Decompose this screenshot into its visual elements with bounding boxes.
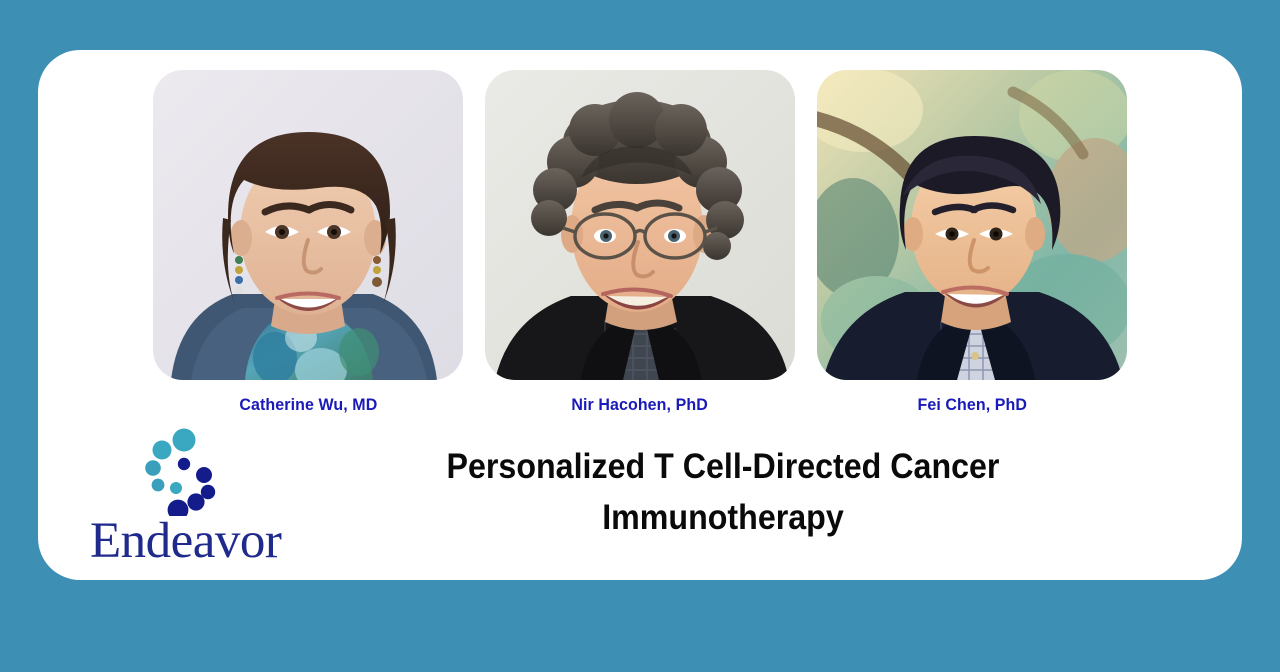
endeavor-logo: Endeavor <box>90 428 300 578</box>
endeavor-wordmark: Endeavor <box>90 516 300 567</box>
endeavor-dots-logo <box>138 428 228 516</box>
portrait-nir-hacohen <box>485 70 795 380</box>
speaker-name-2: Nir Hacohen, PhD <box>572 395 708 415</box>
speaker-card-1: Catherine Wu, MD <box>153 70 463 415</box>
talk-title: Personalized T Cell-Directed Cancer Immu… <box>360 442 1087 544</box>
speaker-name-1: Catherine Wu, MD <box>239 395 377 415</box>
speaker-card-2: Nir Hacohen, PhD <box>485 70 795 415</box>
portrait-fei-chen <box>817 70 1127 380</box>
bottom-block: Endeavor Personalized T Cell-Directed Ca… <box>38 418 1242 580</box>
talk-title-line-2: Immunotherapy <box>360 493 1087 544</box>
portrait-catherine-wu <box>153 70 463 380</box>
slide-card: Catherine Wu, MD <box>38 50 1242 580</box>
talk-title-line-1: Personalized T Cell-Directed Cancer <box>360 442 1087 493</box>
speakers-row: Catherine Wu, MD <box>38 70 1242 430</box>
speaker-card-3: Fei Chen, PhD <box>817 70 1127 415</box>
speaker-name-3: Fei Chen, PhD <box>917 395 1027 415</box>
